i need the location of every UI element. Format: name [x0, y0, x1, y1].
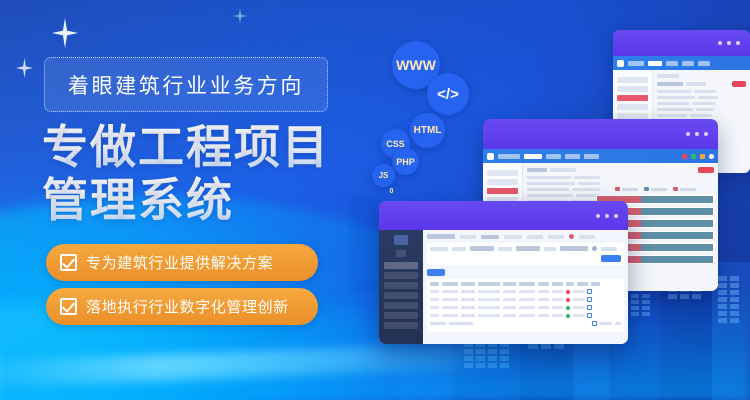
window-body [379, 230, 628, 344]
row-action-icon[interactable] [587, 297, 592, 302]
window-dot [727, 41, 731, 45]
window-dot [718, 41, 722, 45]
notification-icon[interactable] [569, 234, 574, 239]
bubble-php: PHP [392, 148, 419, 175]
table-cell [478, 290, 500, 293]
sparkle-icon [16, 58, 33, 78]
sidebar-collapse-icon[interactable] [396, 250, 406, 257]
app-logo-icon [617, 60, 624, 67]
chart-bar-segment [641, 256, 713, 263]
table-cell [552, 298, 563, 301]
sidebar-item-active[interactable] [487, 188, 518, 194]
tab[interactable] [565, 154, 580, 159]
table-cell [442, 298, 458, 301]
sidebar-item[interactable] [487, 170, 518, 176]
row-action-icon[interactable] [587, 289, 592, 294]
date-range-input[interactable] [560, 246, 588, 251]
table-cell [573, 290, 584, 293]
table-cell [552, 314, 563, 317]
table-cell [552, 290, 563, 293]
filter-bar[interactable] [427, 243, 624, 265]
table-cell [430, 306, 439, 309]
feature-pill-1-label: 专为建筑行业提供解决方案 [86, 252, 273, 273]
window-title-bar [379, 201, 628, 230]
sidebar-item[interactable] [384, 302, 418, 309]
pagination-page[interactable] [592, 321, 597, 326]
message-icon[interactable] [691, 154, 696, 159]
window-title-bar [613, 30, 750, 56]
app-topbar [483, 149, 718, 163]
filter-select[interactable] [516, 246, 540, 251]
search-button[interactable] [601, 255, 621, 262]
app-logo-icon [487, 153, 494, 160]
nav-link[interactable] [460, 235, 476, 239]
row-action-icon[interactable] [587, 313, 592, 318]
sidebar-item[interactable] [384, 282, 418, 289]
table-cell [552, 306, 563, 309]
row-action-icon[interactable] [587, 305, 592, 310]
notification-icon[interactable] [682, 154, 687, 159]
page-title: 专做工程项目 管理系统 [42, 121, 372, 227]
dashboard-window-front[interactable] [379, 201, 628, 344]
sidebar-item-active[interactable] [617, 95, 648, 101]
table-cell [519, 314, 535, 317]
sidebar-item[interactable] [487, 179, 518, 185]
bubble-code: </> [427, 73, 469, 115]
table-cell [430, 298, 439, 301]
table-cell [503, 306, 516, 309]
alert-icon[interactable] [700, 154, 705, 159]
filter-label [430, 247, 448, 251]
table-cell [519, 306, 535, 309]
sidebar-item[interactable] [617, 86, 648, 92]
table-cell [519, 298, 535, 301]
table-cell [519, 290, 535, 293]
subtitle-box: 着眼建筑行业业务方向 [44, 57, 328, 112]
avatar[interactable] [709, 154, 714, 159]
status-badge [566, 298, 570, 302]
window-dot [596, 214, 600, 218]
window-dot [736, 41, 740, 45]
tab[interactable] [546, 154, 561, 159]
table-cell [538, 298, 549, 301]
app-header [427, 234, 624, 239]
table-cell [538, 290, 549, 293]
primary-button[interactable] [698, 167, 714, 173]
table-cell [573, 314, 584, 317]
primary-button[interactable] [732, 81, 746, 87]
table-cell [538, 314, 549, 317]
table-cell [461, 306, 475, 309]
chart-bar-segment [641, 232, 713, 239]
nav-link[interactable] [504, 235, 522, 239]
calendar-icon[interactable] [592, 246, 597, 251]
window-dot [614, 214, 618, 218]
chart-bar-segment [641, 220, 713, 227]
tab[interactable] [584, 154, 599, 159]
table-row[interactable] [430, 297, 621, 302]
headline-line-2: 管理系统 [42, 174, 372, 227]
table-row[interactable] [430, 313, 621, 318]
sidebar-item[interactable] [617, 77, 648, 83]
legend-item [615, 187, 638, 191]
nav-link[interactable] [527, 235, 543, 239]
sidebar-item[interactable] [384, 272, 418, 279]
app-main [423, 230, 628, 344]
table-cell [442, 314, 458, 317]
chart-bar-segment [641, 196, 713, 203]
filter-label [498, 247, 512, 251]
table-cell [478, 298, 500, 301]
nav-link[interactable] [548, 235, 564, 239]
table-cell [430, 314, 439, 317]
app-topbar [613, 56, 750, 70]
user-menu[interactable] [579, 235, 595, 239]
filter-label [452, 247, 466, 251]
feature-pill-2[interactable]: 落地执行行业数字化管理创新 [46, 288, 318, 325]
feature-pill-2-label: 落地执行行业数字化管理创新 [86, 296, 289, 317]
app-title-placeholder [427, 234, 455, 239]
app-sidebar-dark[interactable] [379, 230, 423, 344]
data-table [427, 279, 624, 332]
chart-bar-segment [641, 208, 713, 215]
chart-bar-segment [641, 244, 713, 251]
table-header-row [430, 282, 621, 286]
legend-item [644, 187, 667, 191]
sidebar-item[interactable] [384, 292, 418, 299]
tab[interactable] [666, 61, 678, 66]
legend-item [673, 187, 696, 191]
table-cell [461, 298, 475, 301]
table-cell [442, 290, 458, 293]
chart-legend [596, 187, 714, 191]
table-footer [430, 321, 621, 326]
table-cell [538, 306, 549, 309]
table-row[interactable] [430, 305, 621, 310]
table-cell [503, 290, 516, 293]
table-cell [478, 306, 500, 309]
bubble-zero: 0 [383, 183, 400, 200]
window-dot [605, 214, 609, 218]
banner-canvas: 着眼建筑行业业务方向 专做工程项目 管理系统 专为建筑行业提供解决方案 落地执行… [0, 0, 750, 400]
table-cell [503, 314, 516, 317]
sidebar-item[interactable] [617, 104, 648, 110]
table-cell [442, 306, 458, 309]
table-cell [503, 298, 516, 301]
filter-label [544, 247, 556, 251]
tab[interactable] [682, 61, 694, 66]
table-cell [573, 306, 584, 309]
tab-active[interactable] [524, 154, 542, 159]
status-badge [566, 290, 570, 294]
sparkle-icon [52, 18, 78, 48]
window-dot [686, 132, 690, 136]
sidebar-item-active[interactable] [384, 262, 418, 269]
app-logo-icon [394, 235, 408, 245]
bubble-html: HTML [410, 113, 445, 148]
table-cell [573, 298, 584, 301]
window-dot [704, 132, 708, 136]
filter-label [601, 247, 617, 251]
feature-pill-1[interactable]: 专为建筑行业提供解决方案 [46, 244, 318, 281]
tab-active[interactable] [648, 61, 662, 66]
app-title-placeholder [628, 61, 644, 66]
add-button[interactable] [427, 269, 445, 276]
status-badge [566, 314, 570, 318]
sidebar-item[interactable] [384, 322, 418, 329]
table-cell [461, 314, 475, 317]
window-title-bar [483, 119, 718, 149]
table-cell [478, 314, 500, 317]
table-cell [461, 290, 475, 293]
subtitle-text: 着眼建筑行业业务方向 [68, 70, 304, 100]
checkbox-check-icon [60, 298, 77, 315]
sidebar-item[interactable] [384, 312, 418, 319]
window-dot [695, 132, 699, 136]
tab[interactable] [698, 61, 710, 66]
table-body [430, 289, 621, 318]
filter-select[interactable] [470, 246, 494, 251]
nav-link-active[interactable] [481, 235, 499, 239]
sparkle-icon [233, 8, 247, 24]
status-badge [566, 306, 570, 310]
checkbox-check-icon [60, 254, 77, 271]
table-row[interactable] [430, 289, 621, 294]
table-cell [430, 290, 439, 293]
app-title-placeholder [498, 154, 520, 159]
headline-line-1: 专做工程项目 [42, 121, 372, 174]
